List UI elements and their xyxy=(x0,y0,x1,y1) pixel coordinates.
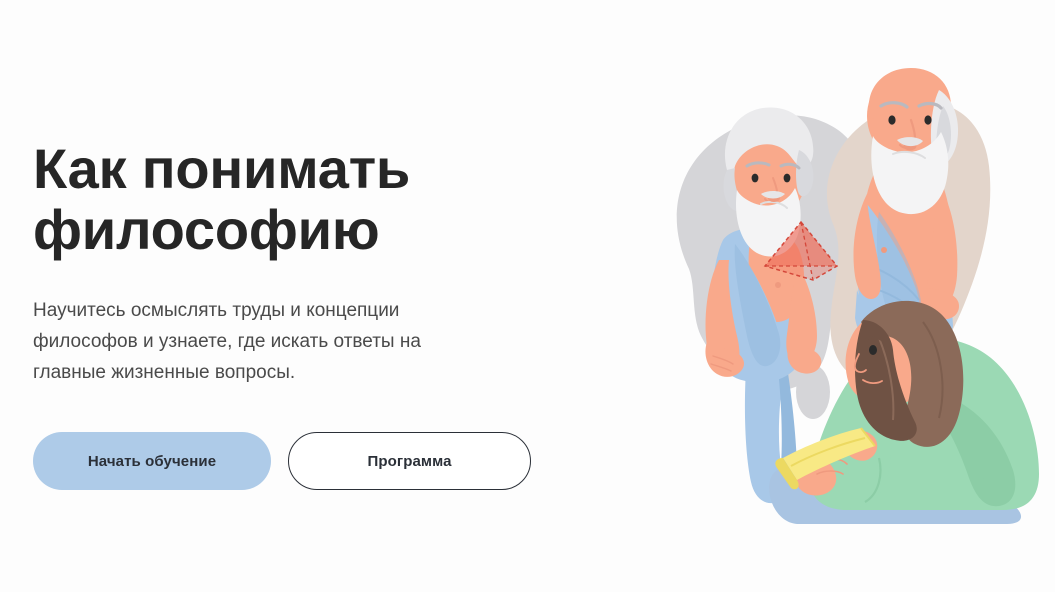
hero-section: Как понимать философию Научитесь осмысля… xyxy=(0,0,1055,592)
hero-actions: Начать обучение Программа xyxy=(33,432,640,490)
small-gray-blob xyxy=(796,365,830,419)
hero-subtitle: Научитесь осмыслять труды и концепции фи… xyxy=(33,296,473,388)
page-title: Как понимать философию xyxy=(33,138,493,260)
hero-copy: Как понимать философию Научитесь осмысля… xyxy=(0,0,640,592)
start-learning-button[interactable]: Начать обучение xyxy=(33,432,271,490)
program-button[interactable]: Программа xyxy=(288,432,531,490)
philosophers-illustration xyxy=(627,54,1047,534)
